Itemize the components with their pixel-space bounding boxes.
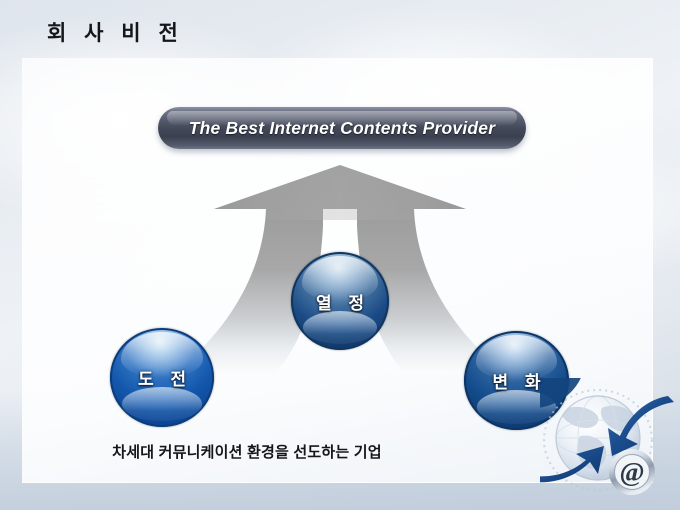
slide-canvas: 회 사 비 전: [0, 0, 680, 510]
orb-label-challenge: 도 전: [110, 328, 214, 427]
vision-banner: The Best Internet Contents Provider: [158, 107, 526, 149]
orb-change[interactable]: 변 화: [464, 331, 569, 430]
orb-passion[interactable]: 열 정: [291, 252, 389, 350]
orb-label-passion: 열 정: [291, 252, 389, 350]
page-title: 회 사 비 전: [47, 17, 184, 47]
orb-label-change: 변 화: [464, 331, 569, 430]
vision-banner-text: The Best Internet Contents Provider: [158, 107, 526, 149]
svg-text:@: @: [619, 457, 644, 487]
orb-challenge[interactable]: 도 전: [110, 328, 214, 427]
at-symbol-badge: @: [609, 449, 655, 495]
